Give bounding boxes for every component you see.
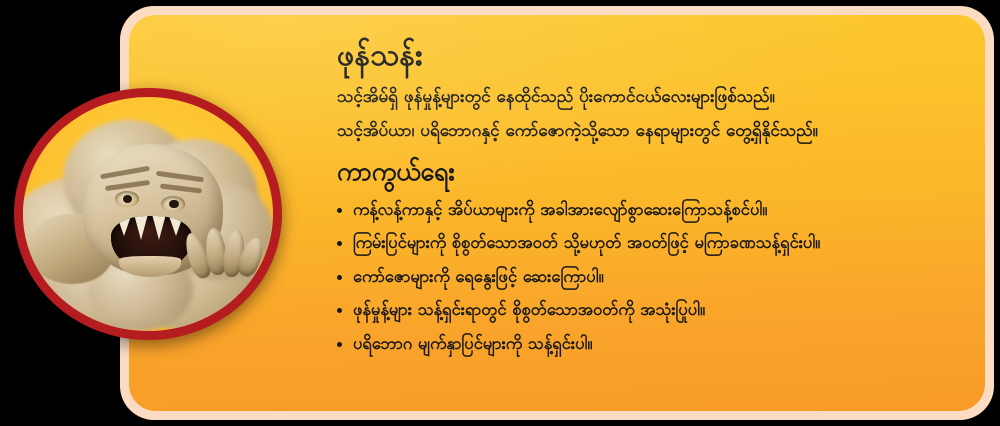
list-item: ကြမ်းပြင်များကို စိုစွတ်သောအဝတ် သို့မဟုတ…	[337, 232, 951, 253]
list-item-label: ကော်ဇောများကို ရေနွေးဖြင့် ဆေးကြောပါ။	[353, 267, 604, 286]
monster-jaw	[119, 256, 181, 277]
illustration-badge	[14, 88, 282, 340]
monster-claw	[188, 228, 263, 289]
badge-ring	[14, 88, 282, 340]
bullet-dot-icon	[337, 241, 342, 246]
list-item: ဖုန်မှုန့်များ သန့်ရှင်းရာတွင် စိုစွတ်သေ…	[337, 299, 951, 320]
intro-paragraph-2: သင့်အိပ်ယာ၊ ပရိဘောဂနှင့် ကော်ဇောကဲ့သို့သ…	[337, 120, 951, 142]
list-item: ကော်ဇောများကို ရေနွေးဖြင့် ဆေးကြောပါ။	[337, 266, 951, 287]
bullet-dot-icon	[337, 308, 342, 313]
monster-tooth	[117, 216, 131, 236]
monster-eye-right	[161, 196, 185, 212]
monster-tooth	[169, 216, 183, 236]
monster-tooth	[134, 216, 148, 240]
list-item-label: ကန့်လန့်ကာနှင့် အိပ်ယာများကို အခါအားလျော…	[353, 200, 767, 219]
monster-pupil	[169, 200, 178, 208]
list-item: ပရိဘောဂ မျက်နှာပြင်များကို သန့်ရှင်းပါ။	[337, 333, 951, 354]
list-item-label: ပရိဘောဂ မျက်နှာပြင်များကို သန့်ရှင်းပါ။	[353, 334, 592, 353]
prevention-tips-list: ကန့်လန့်ကာနှင့် အိပ်ယာများကို အခါအားလျော…	[337, 199, 951, 354]
list-item: ကန့်လန့်ကာနှင့် အိပ်ယာများကို အခါအားလျော…	[337, 199, 951, 220]
bullet-dot-icon	[337, 275, 342, 280]
list-item-label: ကြမ်းပြင်များကို စိုစွတ်သောအဝတ် သို့မဟုတ…	[353, 233, 820, 252]
bullet-dot-icon	[337, 208, 342, 213]
badge-disc	[23, 97, 273, 331]
monster-eye-left	[115, 191, 139, 207]
list-item-label: ဖုန်မှုန့်များ သန့်ရှင်းရာတွင် စိုစွတ်သေ…	[353, 300, 705, 319]
intro-paragraph-1: သင့်အိမ်ရှိ ဖုန်မှုန့်များတွင် နေထိုင်သည…	[337, 86, 951, 108]
bullet-dot-icon	[337, 342, 342, 347]
card-content: ဖုန်သန်း သင့်အိမ်ရှိ ဖုန်မှုန့်များတွင် …	[337, 37, 951, 395]
infographic-card-stage: ဖုန်သန်း သင့်အိမ်ရှိ ဖုန်မှုန့်များတွင် …	[0, 0, 1000, 426]
monster-tooth	[152, 216, 166, 240]
monster-pupil	[123, 195, 132, 203]
page-title: ဖုန်သန်း	[337, 37, 951, 75]
dust-mite-monster-icon	[23, 97, 273, 331]
section-subtitle-prevention: ကာကွယ်ရေး	[337, 156, 951, 187]
